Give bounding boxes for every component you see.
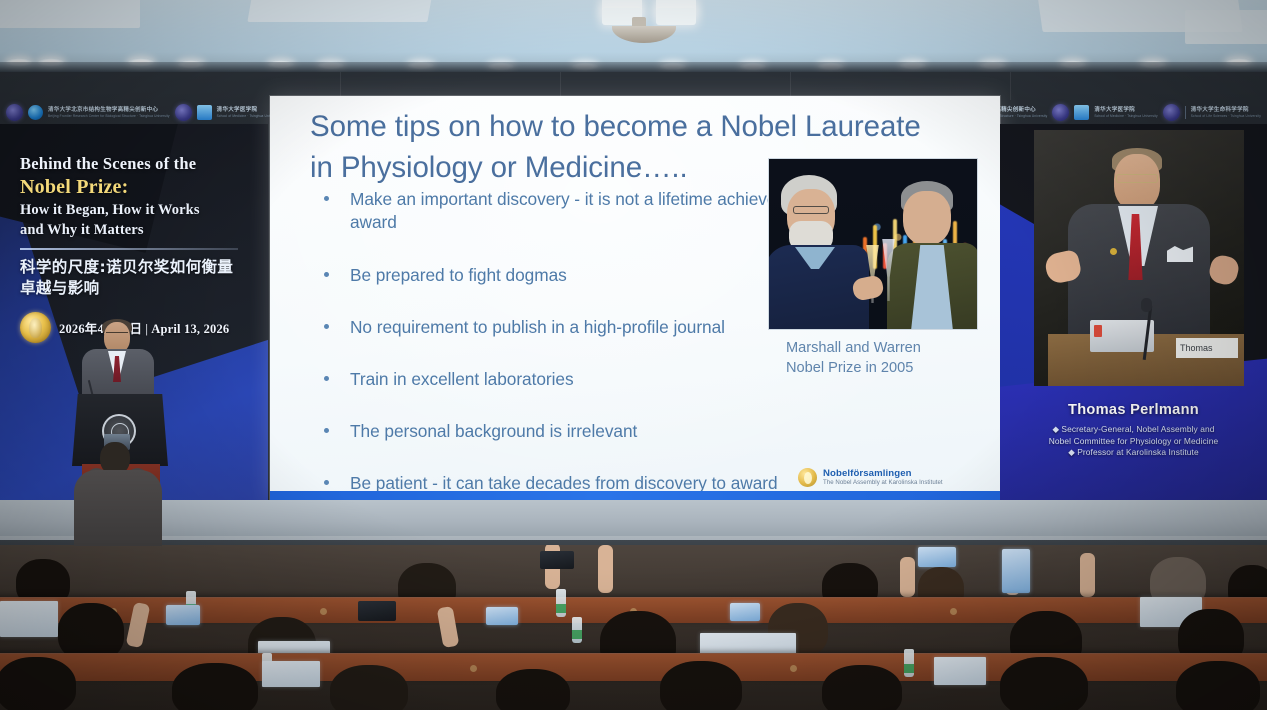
school-logo-icon (197, 105, 212, 120)
university-seal-icon (6, 104, 23, 121)
university-seal-icon (175, 104, 192, 121)
photo-caption: Marshall and Warren Nobel Prize in 2005 (786, 338, 986, 378)
banner-chinese-line1: 科学的尺度:诺贝尔奖如何衡量 (20, 257, 265, 278)
logo-label-cn: 清华大学北京市结构生物学高精尖创新中心 (48, 107, 170, 113)
slide-title-line1: Some tips on how to become a Nobel Laure… (310, 106, 950, 147)
slide-bullet: Make an important discovery - it is not … (306, 188, 826, 234)
bullet-text: No requirement to publish in a high-prof… (350, 317, 725, 337)
ceiling-projector (612, 26, 676, 43)
bullet-dot-icon (324, 376, 329, 381)
bullet-text: The personal background is irrelevant (350, 421, 637, 441)
nobel-assembly-logo: Nobelförsamlingen The Nobel Assembly at … (798, 468, 943, 487)
logo-label-en: School of Medicine · Tsinghua University (1094, 114, 1157, 118)
live-feed-panel: Thomas Thomas Perlmann ◆ Secretary-Gener… (1000, 124, 1267, 512)
ceiling-light-panel (656, 8, 696, 25)
speaker-name: Thomas Perlmann (1000, 402, 1267, 418)
photo-caption-line1: Marshall and Warren (786, 338, 986, 358)
speaker-role-line1: ◆ Secretary-General, Nobel Assembly and (1014, 424, 1253, 436)
bullet-text: Be prepared to fight dogmas (350, 265, 567, 285)
smartphone (486, 607, 518, 625)
speaker-roles: ◆ Secretary-General, Nobel Assembly and … (1014, 424, 1253, 459)
logo-divider (1185, 106, 1186, 119)
audience-head (172, 663, 258, 710)
smartphone (540, 551, 574, 569)
feed-microphone-head (1141, 298, 1152, 312)
audience-head (330, 665, 408, 710)
assembly-name-sv: Nobelförsamlingen (823, 468, 943, 479)
bullet-dot-icon (324, 428, 329, 433)
smartphone (166, 605, 200, 625)
laureates-photo (768, 158, 978, 330)
speaker-glasses (106, 332, 128, 337)
smartphone (918, 547, 956, 567)
audience-head (660, 661, 742, 710)
bullet-text: Make an important discovery - it is not … (350, 189, 815, 232)
raised-arm (1080, 553, 1095, 597)
logo-label-en: School of Life Sciences · Tsinghua Unive… (1191, 114, 1261, 118)
bullet-text: Train in excellent laboratories (350, 369, 574, 389)
feed-nameplate: Thomas (1176, 338, 1238, 358)
audience-head (0, 657, 76, 710)
raised-arm (598, 545, 613, 593)
projected-slide: Some tips on how to become a Nobel Laure… (270, 96, 1000, 500)
nobel-medal-icon (20, 312, 51, 343)
speaker-role-line3: ◆ Professor at Karolinska Institute (1014, 447, 1253, 459)
center-logo-icon (28, 105, 43, 120)
audience-seating (0, 545, 1267, 710)
feed-speaker-right-hand (1207, 253, 1241, 287)
screenshot-root: 清华大学北京市结构生物学高精尖创新中心 Beijing Frontier Res… (0, 0, 1267, 710)
logo-label-cn: 清华大学医学院 (1094, 107, 1157, 113)
bullet-dot-icon (324, 324, 329, 329)
photo-caption-line2: Nobel Prize in 2005 (786, 358, 986, 378)
banner-divider (20, 248, 238, 250)
water-bottle (556, 589, 566, 617)
raised-arm (900, 557, 915, 597)
university-seal-icon (1052, 104, 1069, 121)
smartphone (358, 601, 396, 621)
logo-label-cn: 清华大学生命科学学院 (1191, 107, 1261, 113)
university-seal-icon (1163, 104, 1180, 121)
photographer (66, 432, 170, 544)
audience-head (1000, 657, 1088, 710)
speaker-role-line2: Nobel Committee for Physiology or Medici… (1014, 436, 1253, 448)
laptop-screen (0, 601, 58, 637)
laptop-screen (262, 661, 320, 687)
bullet-text: Be patient - it can take decades from di… (350, 473, 778, 493)
water-bottle (904, 649, 914, 677)
laptop-screen (934, 657, 986, 685)
photographer-body (74, 470, 162, 546)
nobel-medal-icon (798, 468, 817, 487)
water-bottle (572, 617, 582, 643)
bullet-dot-icon (324, 196, 329, 201)
banner-title-line2: Nobel Prize: (20, 175, 265, 199)
smartphone (1002, 549, 1030, 593)
banner-chinese-line2: 卓越与影响 (20, 278, 265, 299)
banner-title-line3: How it Began, How it Works (20, 201, 265, 219)
logo-label-en: Beijing Frontier Research Center for Bio… (48, 114, 170, 118)
banner-title-line1: Behind the Scenes of the (20, 154, 265, 174)
assembly-name-en: The Nobel Assembly at Karolinska Institu… (823, 479, 943, 487)
feed-lapel-pin-icon (1110, 248, 1117, 255)
slide-bullet: The personal background is irrelevant (306, 420, 966, 443)
slide-accent-bar (270, 491, 1000, 500)
smartphone (730, 603, 760, 621)
audience-head (1176, 661, 1260, 710)
banner-title-line4: and Why it Matters (20, 221, 265, 239)
live-video-feed: Thomas (1034, 130, 1244, 386)
audience-head (496, 669, 570, 710)
bullet-dot-icon (324, 272, 329, 277)
school-logo-icon (1074, 105, 1089, 120)
photo-person-marshall (768, 175, 869, 330)
bullet-dot-icon (324, 480, 329, 485)
feed-speaker-glasses (1116, 174, 1158, 183)
photo-person-warren (885, 181, 978, 330)
audience-head (822, 665, 902, 710)
